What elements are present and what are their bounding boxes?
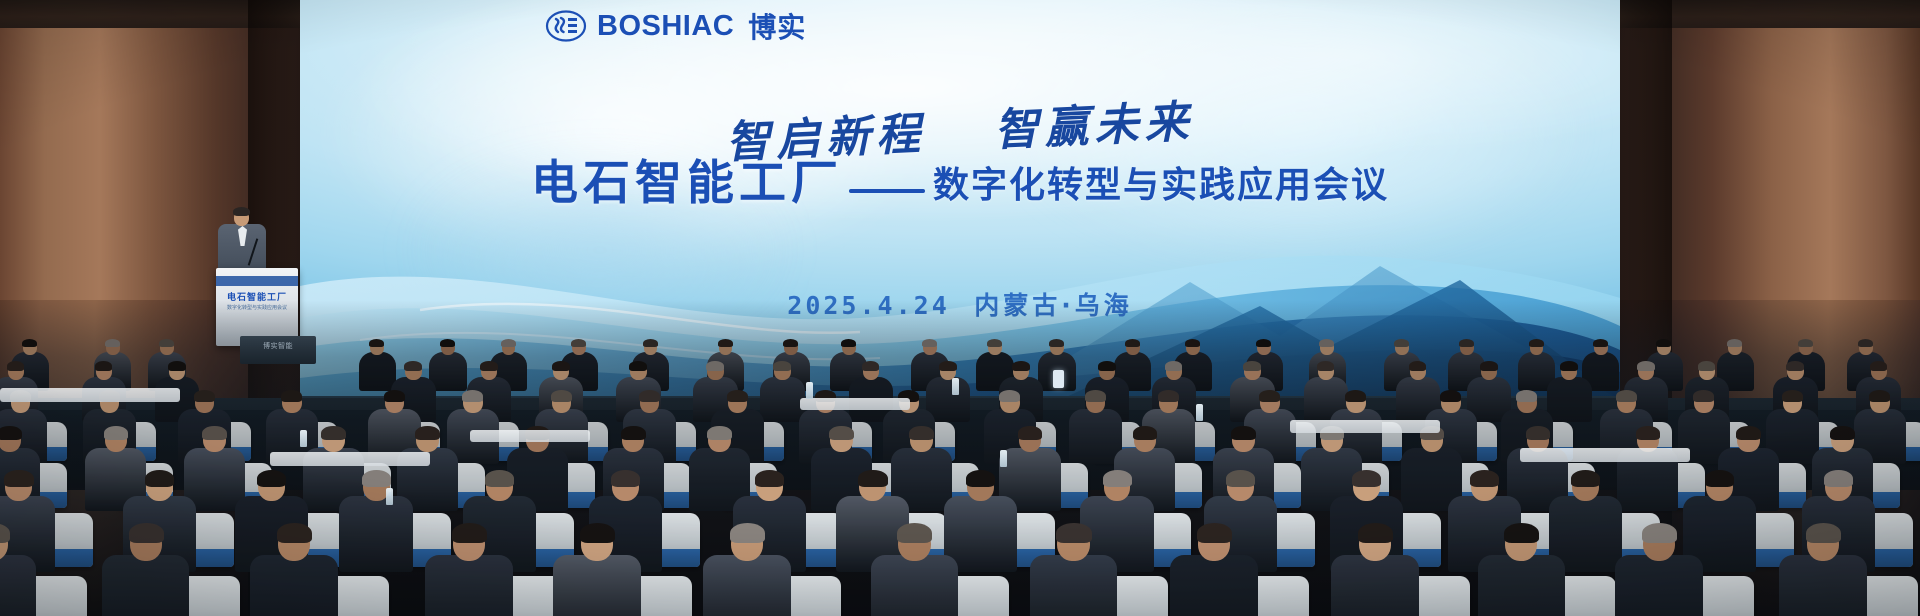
audience-hair	[552, 361, 570, 371]
audience-hair	[897, 523, 932, 543]
headline-dash-rule	[849, 189, 925, 193]
audience-hair	[145, 470, 174, 487]
audience-hair	[1593, 339, 1608, 348]
audience-torso	[1779, 555, 1867, 616]
audience-torso	[1030, 555, 1118, 616]
audience-hair	[159, 339, 174, 348]
audience-hair	[858, 470, 887, 487]
audience-torso	[359, 352, 396, 390]
audience-hair	[1869, 390, 1890, 402]
audience-hair	[727, 390, 748, 402]
audience-hair	[1529, 339, 1544, 348]
audience-hair	[404, 361, 422, 371]
audience-hair	[706, 361, 724, 371]
conference-photo-scene: BOSHIAC 博实 智启新程 智赢未来 电石智能工厂 数字化转型与实践应用会议…	[0, 0, 1920, 616]
audience-hair	[551, 390, 572, 402]
audience-hair	[1259, 390, 1280, 402]
audience-hair	[1440, 390, 1461, 402]
audience-hair	[1736, 426, 1760, 440]
audience-hair	[1636, 426, 1660, 440]
audience-hair	[1870, 361, 1888, 371]
audience-hair	[452, 523, 487, 543]
audience-hair	[1125, 339, 1140, 348]
audience-hair	[966, 470, 995, 487]
brand-name-chinese: 博实	[748, 6, 806, 46]
audience-hair	[1018, 426, 1042, 440]
audience-hair	[369, 339, 384, 348]
audience-hair	[939, 361, 957, 371]
audience-hair	[1693, 390, 1714, 402]
audience-hair	[1345, 390, 1366, 402]
water-bottle	[806, 382, 813, 399]
headline-main-title: 电石智能工厂	[531, 160, 843, 207]
audience-torso	[102, 555, 190, 616]
audience-torso	[1478, 555, 1566, 616]
audience-hair	[987, 339, 1002, 348]
audience-hair	[321, 426, 345, 440]
audience-hair	[1197, 523, 1232, 543]
audience-hair	[1786, 361, 1804, 371]
audience-hair	[440, 339, 455, 348]
audience-torso	[871, 555, 959, 616]
audience-hair	[105, 339, 120, 348]
audience-hair	[1504, 523, 1539, 543]
audience-torso	[1615, 555, 1703, 616]
audience-hair	[1256, 339, 1271, 348]
water-bottle	[1196, 404, 1203, 421]
audience-hair	[1085, 390, 1106, 402]
audience-area	[0, 300, 1920, 616]
audience-hair	[841, 339, 856, 348]
audience-hair	[1806, 523, 1841, 543]
brand-name-latin: BOSHIAC	[597, 10, 734, 43]
headline-subtitle: 数字化转型与实践应用会议	[933, 168, 1389, 207]
slogan-gap	[948, 146, 974, 147]
audience-hair	[1616, 390, 1637, 402]
boshiac-oval-logo-icon	[545, 8, 587, 44]
audience-hair	[104, 426, 128, 440]
audience-table	[470, 430, 590, 442]
audience-hair	[7, 361, 25, 371]
audience-hair	[129, 523, 164, 543]
audience-hair	[1317, 361, 1335, 371]
audience-hair	[1858, 339, 1873, 348]
audience-hair	[1698, 361, 1716, 371]
audience-torso	[1547, 377, 1591, 423]
slogan-part-2: 智赢未来	[993, 96, 1195, 156]
audience-hair	[0, 426, 22, 440]
audience-hair	[281, 390, 302, 402]
audience-hair	[1358, 523, 1393, 543]
audience-hair	[1480, 361, 1498, 371]
water-bottle	[952, 378, 959, 395]
audience-hair	[718, 339, 733, 348]
audience-table	[1290, 420, 1440, 433]
audience-hair	[639, 390, 660, 402]
audience-hair	[1409, 361, 1427, 371]
audience-hair	[1158, 390, 1179, 402]
audience-hair	[643, 339, 658, 348]
audience-hair	[1185, 339, 1200, 348]
audience-table	[270, 452, 430, 466]
audience-torso	[703, 555, 791, 616]
audience-hair	[1516, 390, 1537, 402]
audience-hair	[999, 390, 1020, 402]
water-bottle	[386, 488, 393, 505]
audience-hair	[1782, 390, 1803, 402]
audience-table	[1520, 448, 1690, 462]
audience-hair	[1830, 426, 1854, 440]
audience-table	[0, 388, 180, 402]
audience-hair	[1098, 361, 1116, 371]
audience-torso	[250, 555, 338, 616]
audience-hair	[480, 361, 498, 371]
audience-hair	[1056, 523, 1091, 543]
screen-logo-bar: BOSHIAC 博实	[300, 0, 1620, 52]
audience-hair	[1319, 339, 1334, 348]
audience-hair	[257, 470, 286, 487]
audience-hair	[580, 523, 615, 543]
audience-table	[800, 398, 910, 410]
audience-hair	[621, 426, 645, 440]
audience-hair	[922, 339, 937, 348]
audience-hair	[1642, 523, 1677, 543]
audience-hair	[485, 470, 514, 487]
audience-hair	[22, 339, 37, 348]
audience-hair	[1459, 339, 1474, 348]
speaker-hair	[233, 207, 250, 216]
audience-hair	[1526, 426, 1550, 440]
audience-hair	[1012, 361, 1030, 371]
audience-hair	[707, 426, 731, 440]
audience-torso	[1331, 555, 1419, 616]
audience-torso	[339, 496, 412, 572]
audience-hair	[1727, 339, 1742, 348]
audience-hair	[4, 470, 33, 487]
audience-torso	[760, 377, 804, 423]
audience-hair	[571, 339, 586, 348]
audience-hair	[202, 426, 226, 440]
audience-hair	[462, 390, 483, 402]
audience-hair	[1165, 361, 1183, 371]
audience-hair	[501, 339, 516, 348]
audience-torso	[0, 555, 36, 616]
water-bottle	[1000, 450, 1007, 467]
audience-hair	[730, 523, 765, 543]
audience-hair	[1571, 470, 1600, 487]
audience-hair	[862, 361, 880, 371]
audience-hair	[1705, 470, 1734, 487]
audience-hair	[1798, 339, 1813, 348]
audience-hair	[829, 426, 853, 440]
audience-hair	[415, 426, 439, 440]
audience-hair	[194, 390, 215, 402]
audience-hair	[1394, 339, 1409, 348]
audience-torso	[425, 555, 513, 616]
audience-hair	[1470, 470, 1499, 487]
audience-hair	[773, 361, 791, 371]
audience-hair	[629, 361, 647, 371]
audience-hair	[1656, 339, 1671, 348]
audience-hair	[1352, 470, 1381, 487]
audience-hair	[1231, 426, 1255, 440]
audience-hair	[1103, 470, 1132, 487]
audience-hair	[1049, 339, 1064, 348]
audience-hair	[1226, 470, 1255, 487]
audience-hair	[909, 426, 933, 440]
audience-hair	[277, 523, 312, 543]
audience-hair	[611, 470, 640, 487]
audience-torso	[1069, 409, 1122, 464]
audience-torso	[1170, 555, 1258, 616]
audience-hair	[755, 470, 784, 487]
audience-hair	[1243, 361, 1261, 371]
audience-torso	[553, 555, 641, 616]
water-bottle	[300, 430, 307, 447]
screen-headline: 电石智能工厂 数字化转型与实践应用会议	[300, 160, 1620, 207]
audience-hair	[783, 339, 798, 348]
audience-hair	[95, 361, 113, 371]
attendee-phone-screen	[1053, 370, 1064, 388]
podium-accent-band	[216, 276, 298, 286]
audience-hair	[1824, 470, 1853, 487]
audience-hair	[1637, 361, 1655, 371]
audience-hair	[384, 390, 405, 402]
audience-hair	[168, 361, 186, 371]
audience-hair	[1560, 361, 1578, 371]
audience-hair	[362, 470, 391, 487]
audience-hair	[1133, 426, 1157, 440]
